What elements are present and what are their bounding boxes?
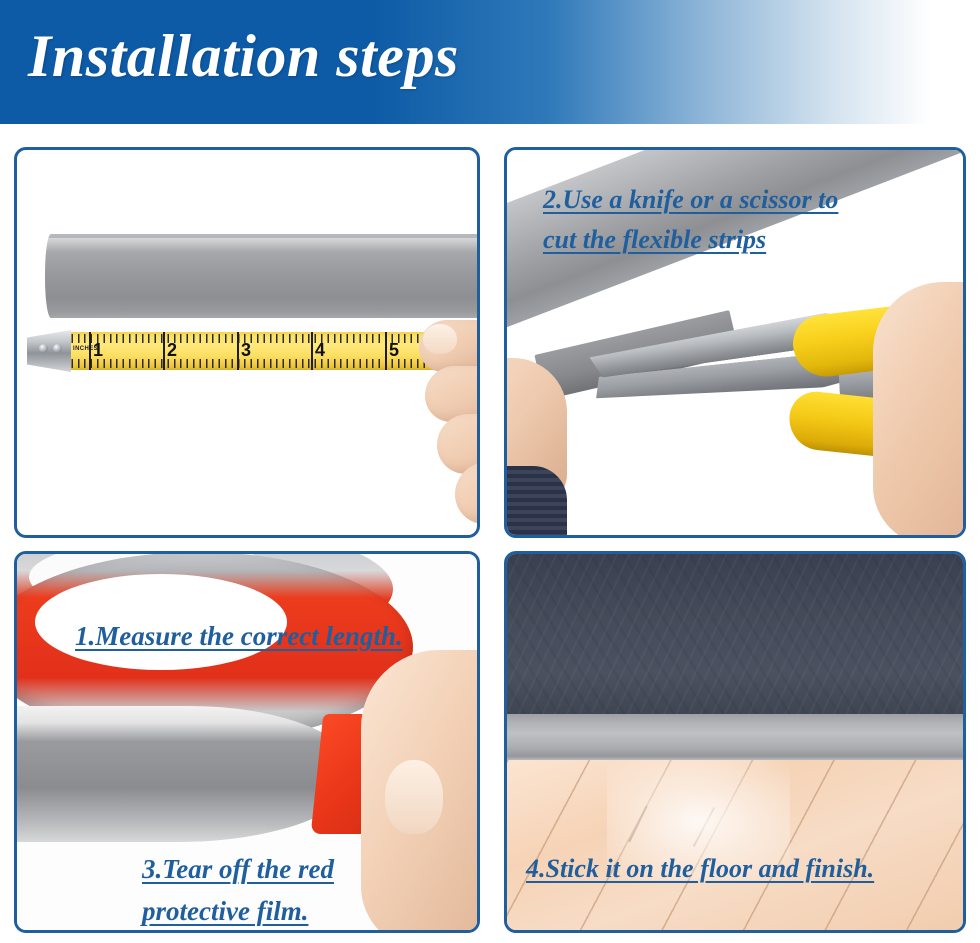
step-4-caption: 4.Stick it on the floor and finish. [526,849,874,889]
caption-line: cut the flexible strips [543,220,838,260]
step-3-caption: 3.Tear off the red protective film. [142,849,334,933]
step-1-caption: 1.Measure the correct length. [75,616,403,658]
tape-ticks-bottom [65,359,437,368]
tape-unit-label: INCHES [73,346,98,352]
tape-major-tick [163,332,165,370]
step-1-photo: 1 2 3 4 5 INCHES [17,150,477,535]
caption-line: 3.Tear off the red [142,849,334,891]
step-panel-1: 1 2 3 4 5 INCHES 1.Measure the correct l… [14,147,480,538]
right-hand-holding-scissors [873,282,963,535]
step-panel-4: 4.Stick it on the floor and finish. [504,551,966,933]
tape-measure: 1 2 3 4 5 INCHES [27,332,437,370]
rivet-icon [39,344,48,353]
tape-number: 2 [167,341,177,360]
page-title: Installation steps [28,22,459,91]
gray-molding-strip [45,234,477,318]
navy-sleeve [507,466,567,535]
hand-holding-tape [415,310,477,535]
tape-number: 4 [315,341,325,360]
caption-line: 1.Measure the correct length. [75,616,403,658]
tape-number: 3 [241,341,251,360]
caption-line: 4.Stick it on the floor and finish. [526,849,874,889]
tape-major-tick [311,332,313,370]
step-panel-2: 2.Use a knife or a scissor to cut the fl… [504,147,966,538]
tape-blade: 1 2 3 4 5 [65,332,437,370]
rivet-icon [53,344,62,353]
caption-line: 2.Use a knife or a scissor to [543,180,838,220]
tape-major-tick [385,332,387,370]
tape-hook-icon [27,330,71,372]
installed-gray-molding [507,714,963,760]
tape-major-tick [237,332,239,370]
header-banner: Installation steps [0,0,980,124]
step-panel-3: 3.Tear off the red protective film. [14,551,480,933]
tape-number: 5 [389,341,399,360]
coil-lower-band [17,706,357,842]
step-2-caption: 2.Use a knife or a scissor to cut the fl… [543,180,838,261]
dark-gray-wall [507,554,963,714]
thumbnail-icon [385,760,443,834]
caption-line: protective film. [142,891,334,933]
